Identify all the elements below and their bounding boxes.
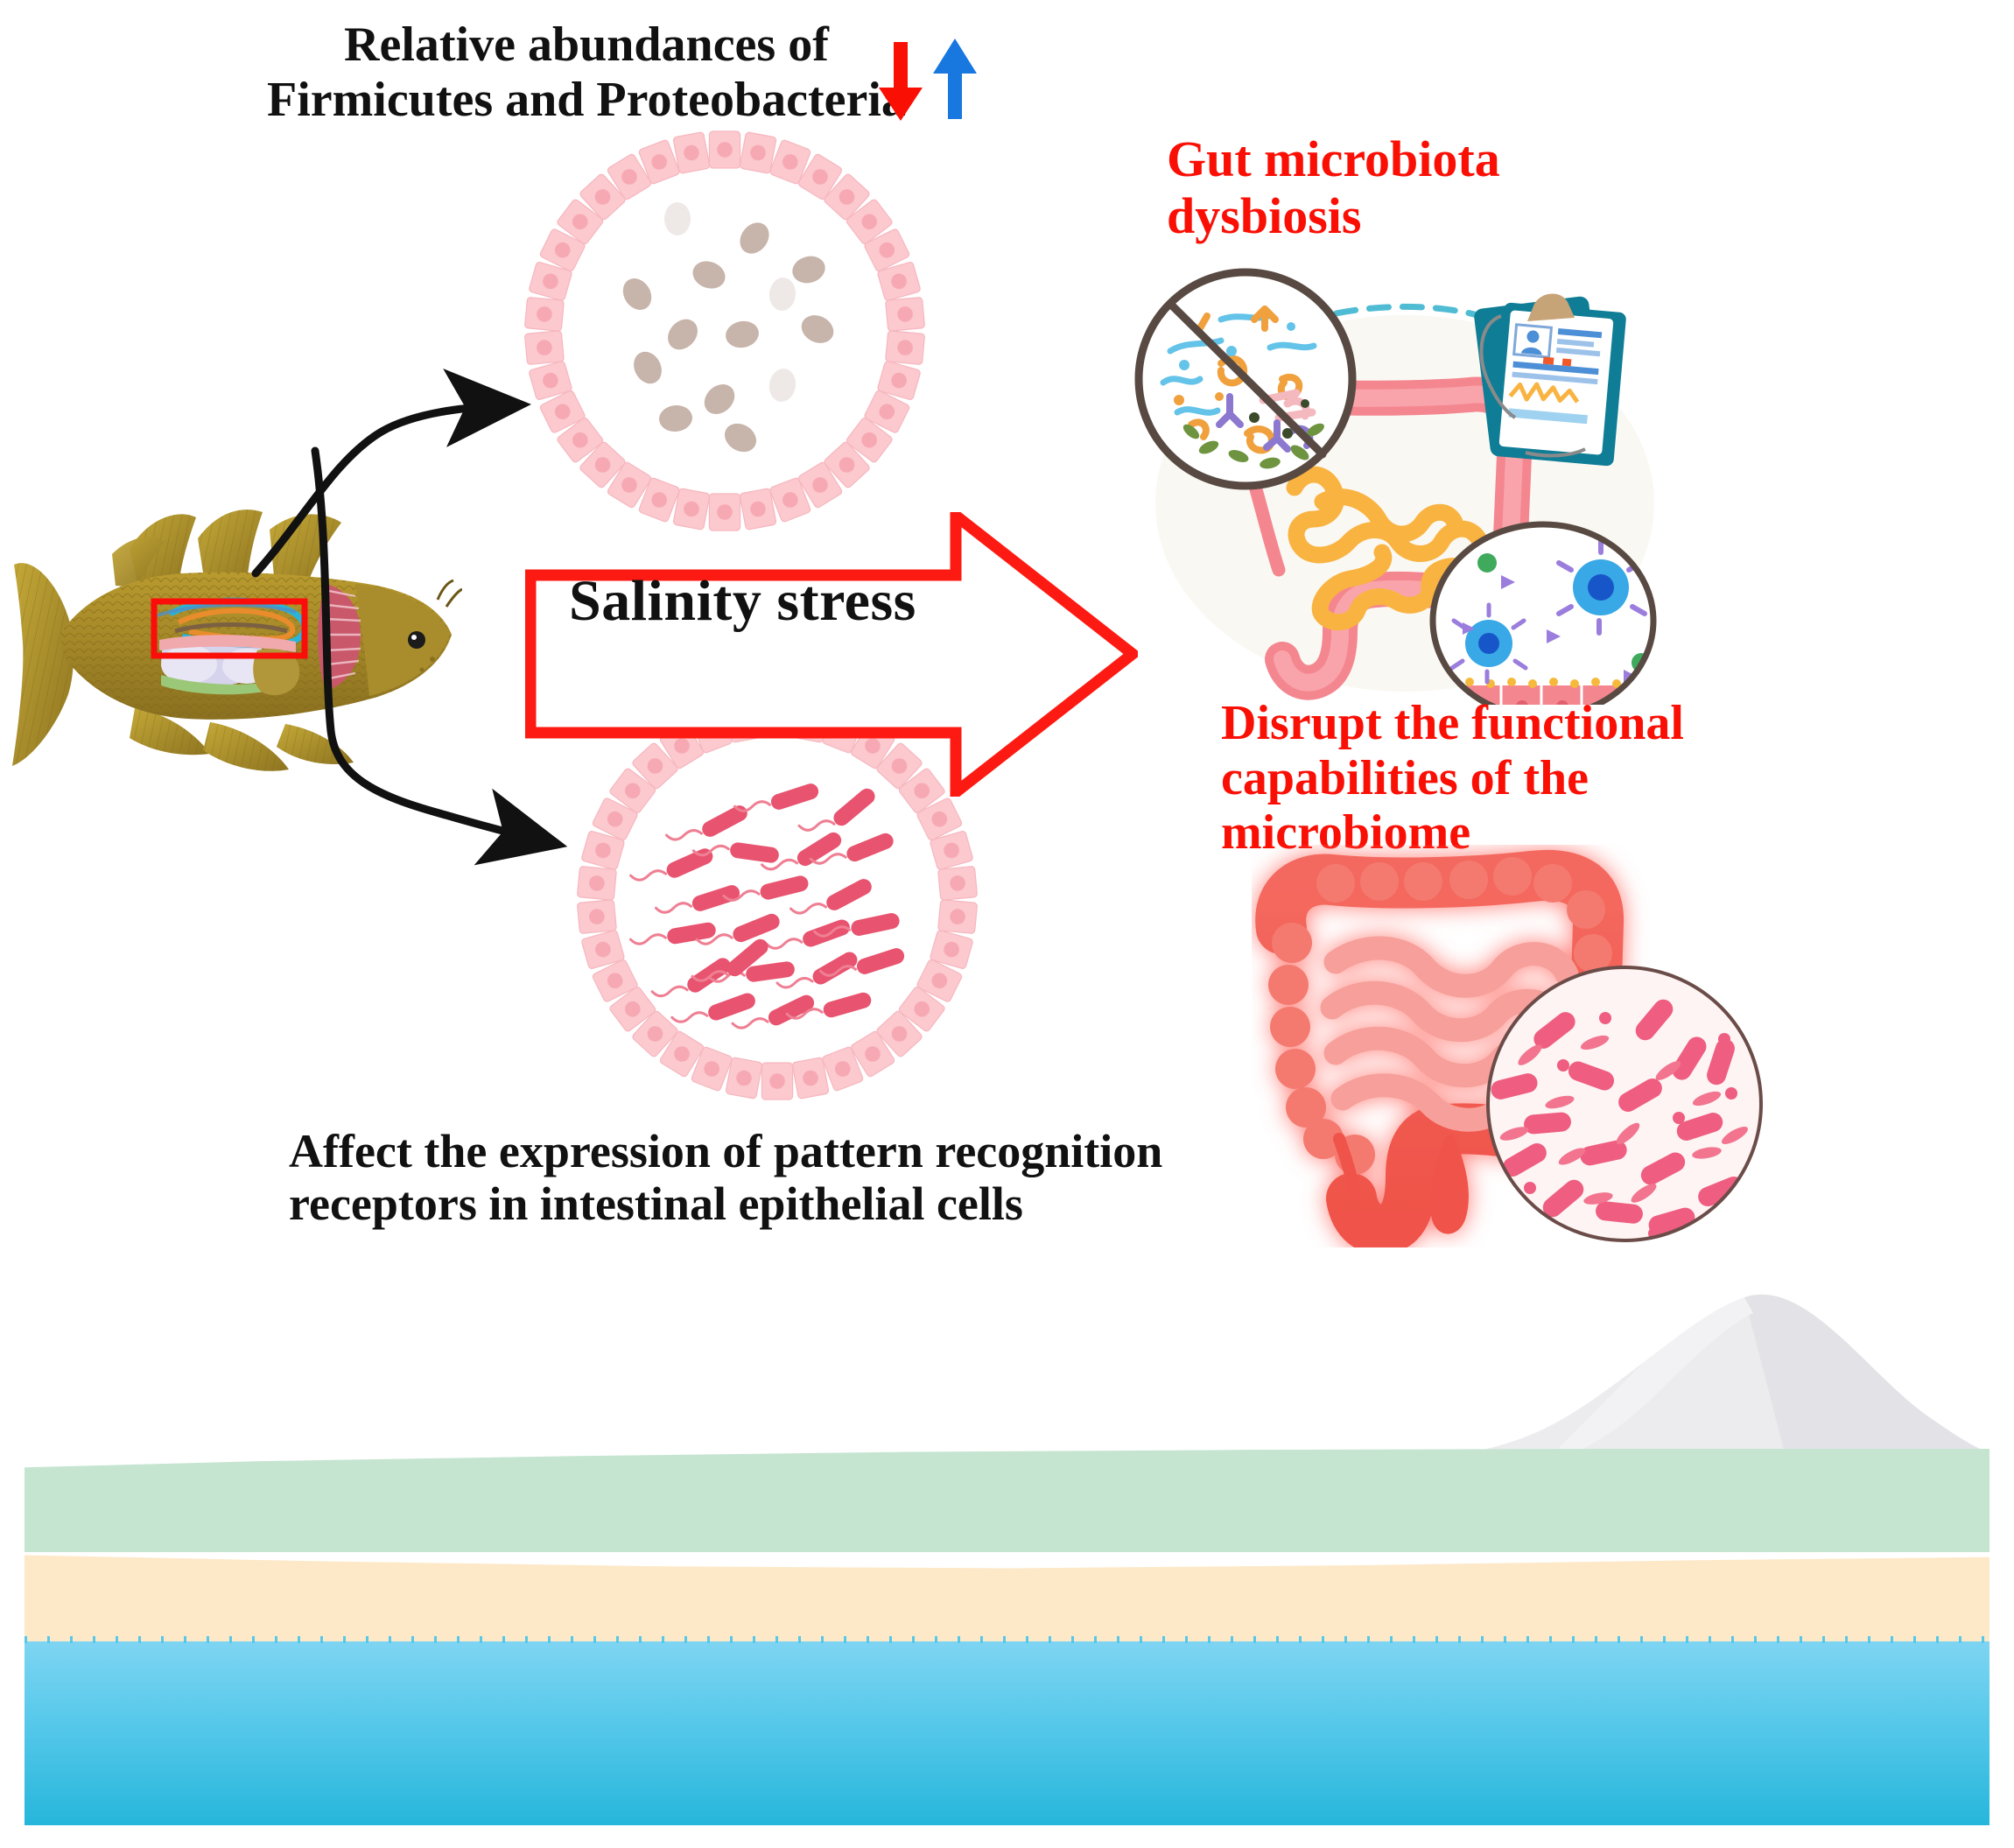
sand-band — [25, 1545, 1989, 1646]
disrupt-function-label: Disrupt the functional capabilities of t… — [1221, 696, 1684, 861]
title-relative-abundances: Relative abundances of Firmicutes and Pr… — [267, 18, 906, 127]
figure-canvas: Relative abundances of Firmicutes and Pr… — [0, 0, 2014, 1848]
intestinal-lumen-healthy-panel — [523, 130, 926, 532]
salinity-stress-arrow — [525, 512, 1138, 797]
intestine-bacteria-illustration — [1252, 845, 1786, 1247]
gut-microbiota-illustration — [1116, 267, 1676, 705]
medical-clipboard-icon — [1473, 293, 1626, 466]
pattern-recognition-caption: Affect the expression of pattern recogni… — [289, 1125, 1162, 1231]
gut-dysbiosis-label: Gut microbiota dysbiosis — [1167, 131, 1500, 245]
grass-band — [25, 1449, 1989, 1552]
mountain-shape — [1377, 1261, 1989, 1466]
no-entry-bacteria-icon — [1139, 272, 1352, 486]
water-band — [25, 1641, 1989, 1825]
down-arrow-icon — [877, 42, 924, 127]
salinity-stress-label: Salinity stress — [569, 569, 916, 634]
magnified-bacteria-icon — [1488, 967, 1761, 1240]
landscape-scene — [25, 1261, 1989, 1825]
up-arrow-icon — [931, 39, 979, 123]
magnified-immune-cells-icon — [1433, 524, 1657, 705]
